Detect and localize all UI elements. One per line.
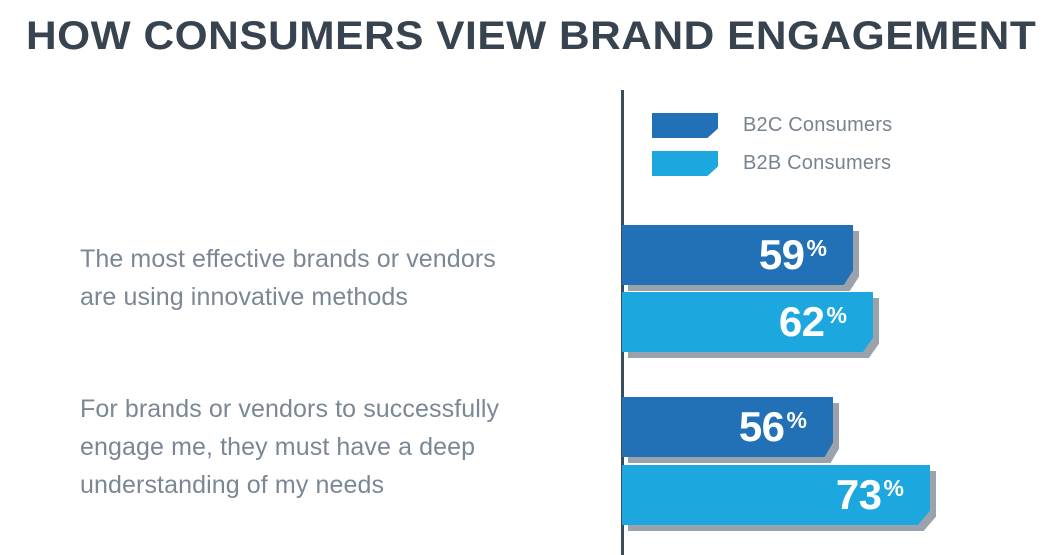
category-label-1-line-2: engage me, they must have a deep	[80, 428, 550, 466]
legend-swatch-icon-b2c	[652, 113, 718, 138]
bar-2-value-number: 56	[739, 406, 785, 448]
bar-1-value-label: 62 %	[779, 292, 847, 352]
category-label-0-line-2: are using innovative methods	[80, 278, 550, 316]
bar-3-value-percent-sign: %	[884, 477, 904, 500]
bar-3-b2b[interactable]: 73 %	[622, 465, 930, 525]
bar-0-value-percent-sign: %	[807, 237, 827, 260]
bar-3-value-label: 73 %	[836, 465, 904, 525]
category-label-1-line-3: understanding of my needs	[80, 466, 550, 504]
chart-legend: B2C Consumers B2B Consumers	[652, 110, 982, 186]
legend-item-b2b[interactable]: B2B Consumers	[652, 148, 982, 186]
legend-item-b2c[interactable]: B2C Consumers	[652, 110, 982, 148]
bar-2-value-percent-sign: %	[787, 409, 807, 432]
bar-0-value-label: 59 %	[759, 225, 827, 285]
legend-label-b2c: B2C Consumers	[743, 110, 892, 140]
legend-label-b2b: B2B Consumers	[743, 148, 891, 178]
bar-0-value-number: 59	[759, 234, 805, 276]
chart-plot-area: B2C Consumers B2B Consumers The most eff…	[0, 0, 1052, 555]
category-label-0-line-1: The most effective brands or vendors	[80, 240, 550, 278]
bar-3-value-number: 73	[836, 474, 882, 516]
category-label-1: For brands or vendors to successfully en…	[80, 390, 550, 504]
bar-2-b2c[interactable]: 56 %	[622, 397, 833, 457]
category-label-0: The most effective brands or vendors are…	[80, 240, 550, 316]
category-label-1-line-1: For brands or vendors to successfully	[80, 390, 550, 428]
bar-1-value-number: 62	[779, 301, 825, 343]
bar-1-b2b[interactable]: 62 %	[622, 292, 873, 352]
bar-2-value-label: 56 %	[739, 397, 807, 457]
bar-0-b2c[interactable]: 59 %	[622, 225, 853, 285]
bar-1-value-percent-sign: %	[827, 304, 847, 327]
legend-swatch-icon-b2b	[652, 151, 718, 176]
